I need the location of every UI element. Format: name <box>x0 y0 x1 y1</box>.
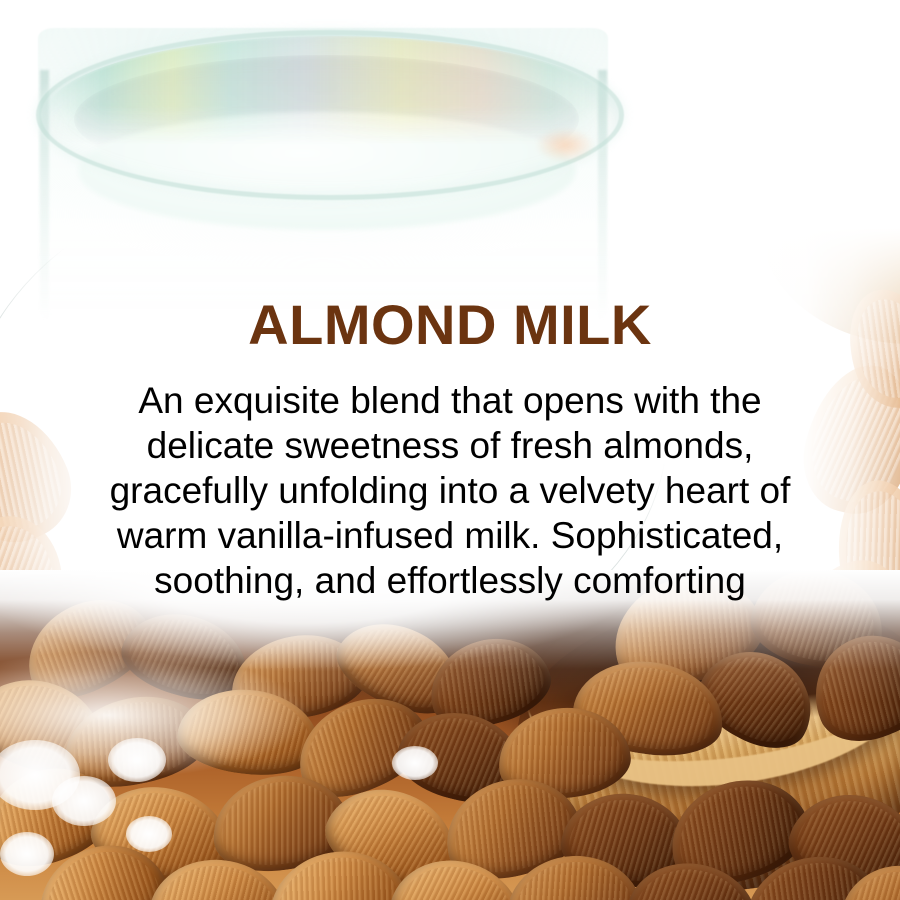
glass-of-milk-photo <box>0 0 900 330</box>
description-line: delicate sweetness of fresh almonds, <box>50 423 850 468</box>
description-line: An exquisite blend that opens with the <box>50 378 850 423</box>
glass-rim-warm-highlight <box>535 128 595 162</box>
product-description: An exquisite blend that opens with the d… <box>50 378 850 603</box>
glass-right-wall <box>598 70 607 320</box>
glass-left-wall <box>40 70 49 320</box>
glass-body-shape <box>38 28 608 330</box>
description-line: soothing, and effortlessly comforting <box>50 558 850 603</box>
glass-inner-shadow-band <box>74 55 579 183</box>
page-title: ALMOND MILK <box>0 297 900 353</box>
glass-rim <box>36 30 624 200</box>
description-line: warm vanilla-infused milk. Sophisticated… <box>50 513 850 558</box>
glass-rim-iridescence <box>46 36 618 191</box>
product-card: ALMOND MILK An exquisite blend that open… <box>0 0 900 900</box>
milk-surface <box>78 112 576 230</box>
description-line: gracefully unfolding into a velvety hear… <box>50 468 850 513</box>
almonds-photo <box>0 570 900 900</box>
